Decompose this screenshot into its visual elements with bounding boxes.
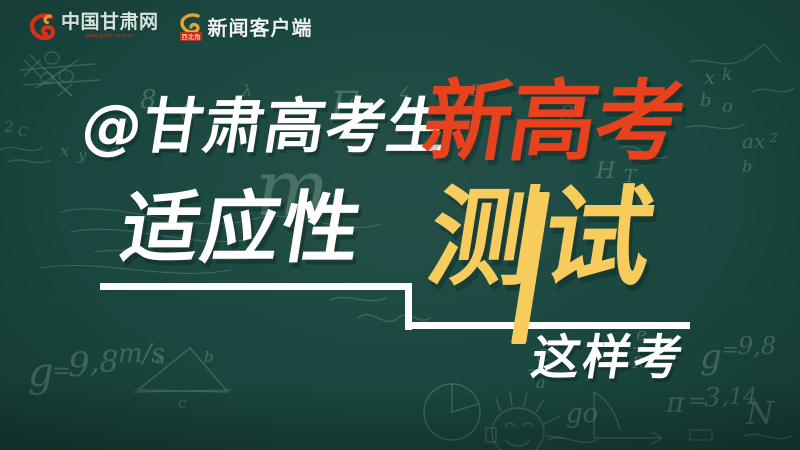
news-client-label: 新闻客户端 bbox=[208, 12, 313, 41]
headline-line1-red: 新高考 bbox=[417, 78, 689, 166]
headline-line3-white: 这样考 bbox=[528, 334, 689, 382]
logo-gscn[interactable]: 中国甘肃网 www.gscn.com.cn bbox=[28, 12, 159, 40]
headline-line2-white: 适应性 bbox=[116, 190, 368, 268]
gscn-wordmark: 中国甘肃网 www.gscn.com.cn bbox=[61, 13, 159, 39]
svg-text:西北角: 西北角 bbox=[181, 32, 200, 41]
logo-xibeijiao[interactable]: 西北角 新闻客户端 bbox=[179, 12, 313, 41]
gscn-url: www.gscn.com.cn bbox=[61, 34, 159, 39]
poster-canvas: 2 C x y = 0 m E 8 O x k b o ax bbox=[0, 0, 800, 450]
headline-group: @甘肃高考生 新高考 适应性 测试 这样考 bbox=[0, 0, 800, 450]
xibeijiao-seal-icon: 西北角 bbox=[179, 13, 203, 39]
gscn-swan-icon bbox=[28, 12, 56, 40]
gscn-name: 中国甘肃网 bbox=[61, 13, 159, 32]
headline-line1-white: @甘肃高考生 bbox=[77, 97, 453, 157]
header-logo-bar: 中国甘肃网 www.gscn.com.cn 西北角 新闻客户端 bbox=[0, 0, 800, 52]
